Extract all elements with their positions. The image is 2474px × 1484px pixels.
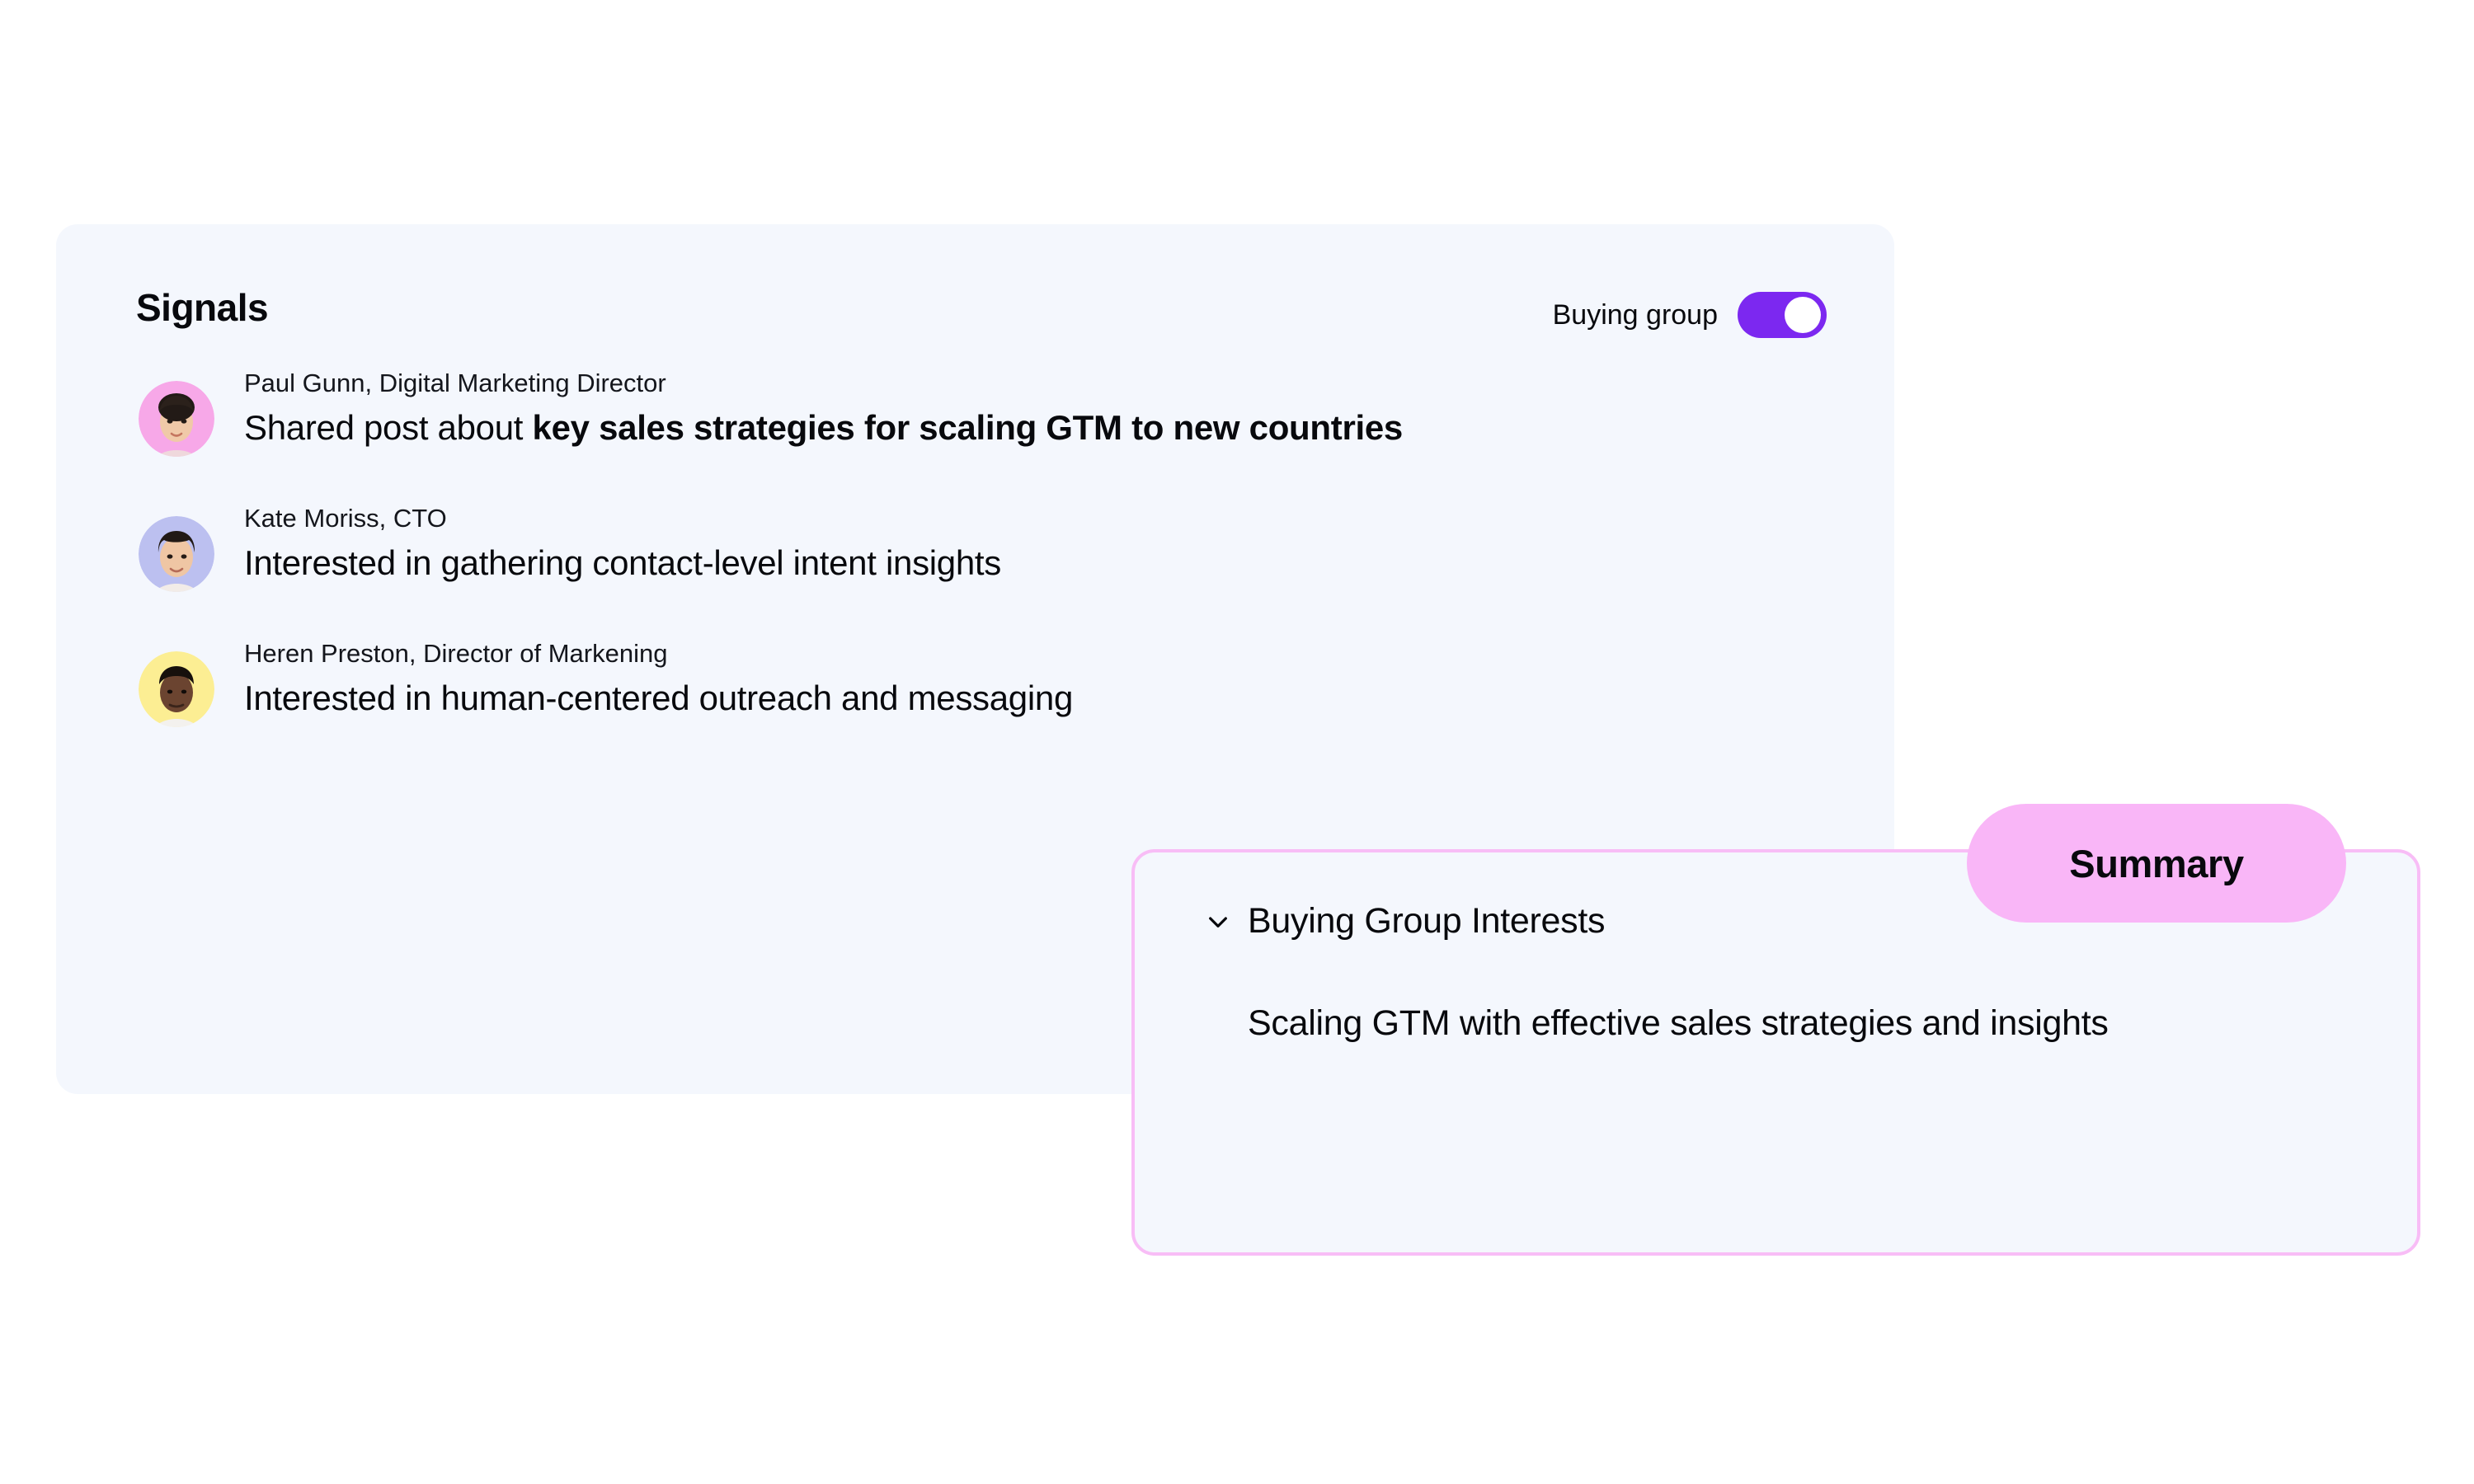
signal-row[interactable]: Kate Moriss, CTO Interested in gathering…	[56, 500, 1894, 592]
signal-text: Shared post about key sales strategies f…	[244, 406, 1403, 448]
summary-section-header[interactable]: Buying Group Interests	[1205, 904, 1605, 939]
buying-group-toggle-label: Buying group	[1553, 301, 1718, 329]
signal-text-plain: Shared post about	[244, 408, 533, 447]
chevron-down-icon[interactable]	[1205, 909, 1231, 935]
signal-body: Kate Moriss, CTO Interested in gathering…	[244, 500, 1001, 584]
buying-group-toggle-group[interactable]: Buying group	[1553, 292, 1827, 338]
signal-person: Heren Preston, Director of Markening	[244, 638, 1073, 670]
signal-body: Paul Gunn, Digital Marketing Director Sh…	[244, 364, 1403, 448]
signal-row[interactable]: Paul Gunn, Digital Marketing Director Sh…	[56, 364, 1894, 457]
signal-text-bold: key sales strategies for scaling GTM to …	[533, 408, 1403, 447]
signals-list: Paul Gunn, Digital Marketing Director Sh…	[56, 364, 1894, 770]
avatar-kate-moriss	[139, 516, 214, 592]
signal-text: Interested in gathering contact-level in…	[244, 542, 1001, 584]
signal-text-plain: Interested in human-centered outreach an…	[244, 679, 1073, 717]
summary-section-title: Buying Group Interests	[1248, 904, 1605, 939]
signal-row[interactable]: Heren Preston, Director of Markening Int…	[56, 635, 1894, 727]
summary-badge: Summary	[1967, 804, 2346, 923]
signal-person: Kate Moriss, CTO	[244, 503, 1001, 535]
signal-body: Heren Preston, Director of Markening Int…	[244, 635, 1073, 719]
summary-body-text: Scaling GTM with effective sales strateg…	[1248, 1001, 2353, 1047]
buying-group-toggle[interactable]	[1738, 292, 1827, 338]
toggle-knob-icon	[1785, 297, 1821, 333]
signal-text: Interested in human-centered outreach an…	[244, 677, 1073, 719]
page-title: Signals	[136, 289, 268, 326]
avatar-paul-gunn	[139, 381, 214, 457]
signal-person: Paul Gunn, Digital Marketing Director	[244, 368, 1403, 400]
signals-card-header: Signals Buying group	[56, 224, 1894, 373]
signal-text-plain: Interested in gathering contact-level in…	[244, 543, 1001, 582]
avatar-heren-preston	[139, 651, 214, 727]
